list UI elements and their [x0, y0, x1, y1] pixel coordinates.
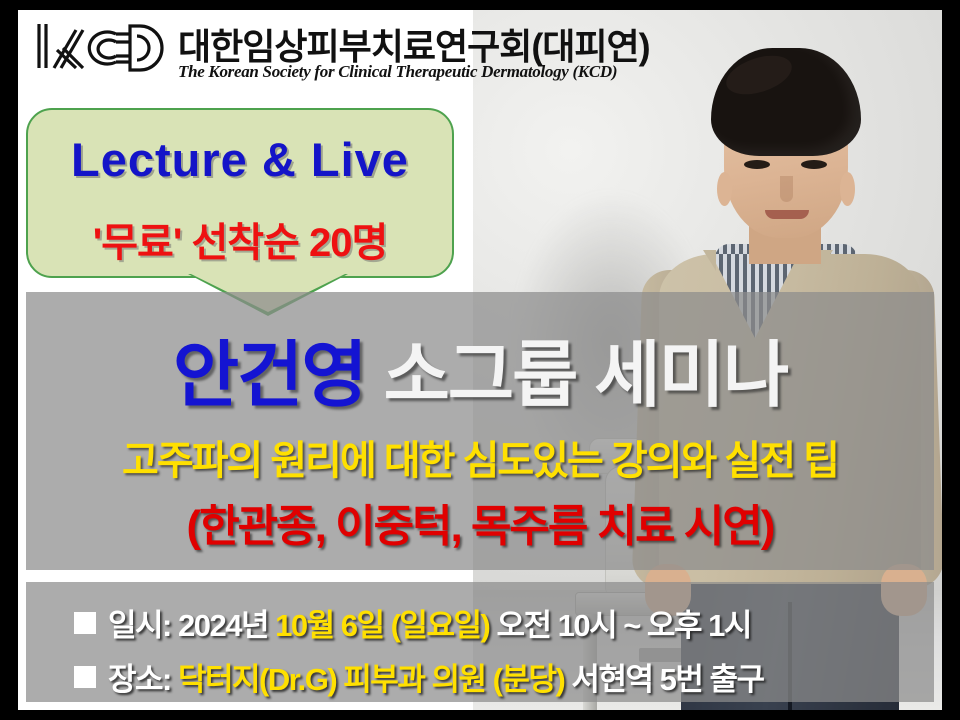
- venue-highlight: 닥터지(Dr.G) 피부과 의원 (분당): [178, 662, 564, 697]
- subtitle-demo-list: (한관종, 이중턱, 목주름 치료 시연): [26, 490, 934, 554]
- datetime-highlight: 10월 6일 (일요일): [275, 608, 489, 643]
- lecture-callout-box: Lecture & Live '무료' 선착순 20명: [26, 108, 454, 278]
- org-name-english: The Korean Society for Clinical Therapeu…: [178, 62, 617, 82]
- poster-header: 대한임상피부치료연구회(대피연) The Korean Society for …: [18, 10, 942, 90]
- title-event-type: 소그룹 세미나: [384, 336, 787, 416]
- person-eye-left: [744, 160, 770, 169]
- info-band: 일시: 2024년 10월 6일 (일요일) 오전 10시 ~ 오후 1시 장소…: [26, 582, 934, 702]
- subtitle-topic: 고주파의 원리에 대한 심도있는 강의와 실전 팁: [26, 428, 934, 486]
- datetime-hours: 오전 10시 ~ 오후 1시: [496, 608, 750, 643]
- person-mouth: [765, 210, 809, 219]
- datetime-year: 2024년: [178, 608, 268, 643]
- kcd-logo-icon: [30, 16, 172, 76]
- person-eye-right: [801, 160, 827, 169]
- person-nose: [780, 176, 793, 202]
- info-datetime-row: 일시: 2024년 10월 6일 (일요일) 오전 10시 ~ 오후 1시: [74, 600, 751, 645]
- callout-line-free-seats: '무료' 선착순 20명: [28, 210, 452, 268]
- square-bullet-icon: [74, 666, 96, 688]
- person-ear-right: [840, 172, 855, 206]
- venue-label: 장소:: [108, 662, 171, 697]
- callout-line-lecture-live: Lecture & Live: [28, 132, 452, 187]
- square-bullet-icon: [74, 612, 96, 634]
- datetime-label: 일시:: [108, 608, 171, 643]
- person-ear-left: [717, 172, 732, 206]
- info-venue-row: 장소: 닥터지(Dr.G) 피부과 의원 (분당) 서현역 5번 출구: [74, 654, 764, 699]
- main-title-band: 안건영 소그룹 세미나 고주파의 원리에 대한 심도있는 강의와 실전 팁 (한…: [26, 292, 934, 570]
- venue-exit: 서현역 5번 출구: [571, 662, 763, 697]
- main-title: 안건영 소그룹 세미나: [26, 316, 934, 421]
- poster-root: 대한임상피부치료연구회(대피연) The Korean Society for …: [0, 0, 960, 720]
- poster-canvas: 대한임상피부치료연구회(대피연) The Korean Society for …: [18, 10, 942, 710]
- title-speaker-name: 안건영: [173, 336, 366, 416]
